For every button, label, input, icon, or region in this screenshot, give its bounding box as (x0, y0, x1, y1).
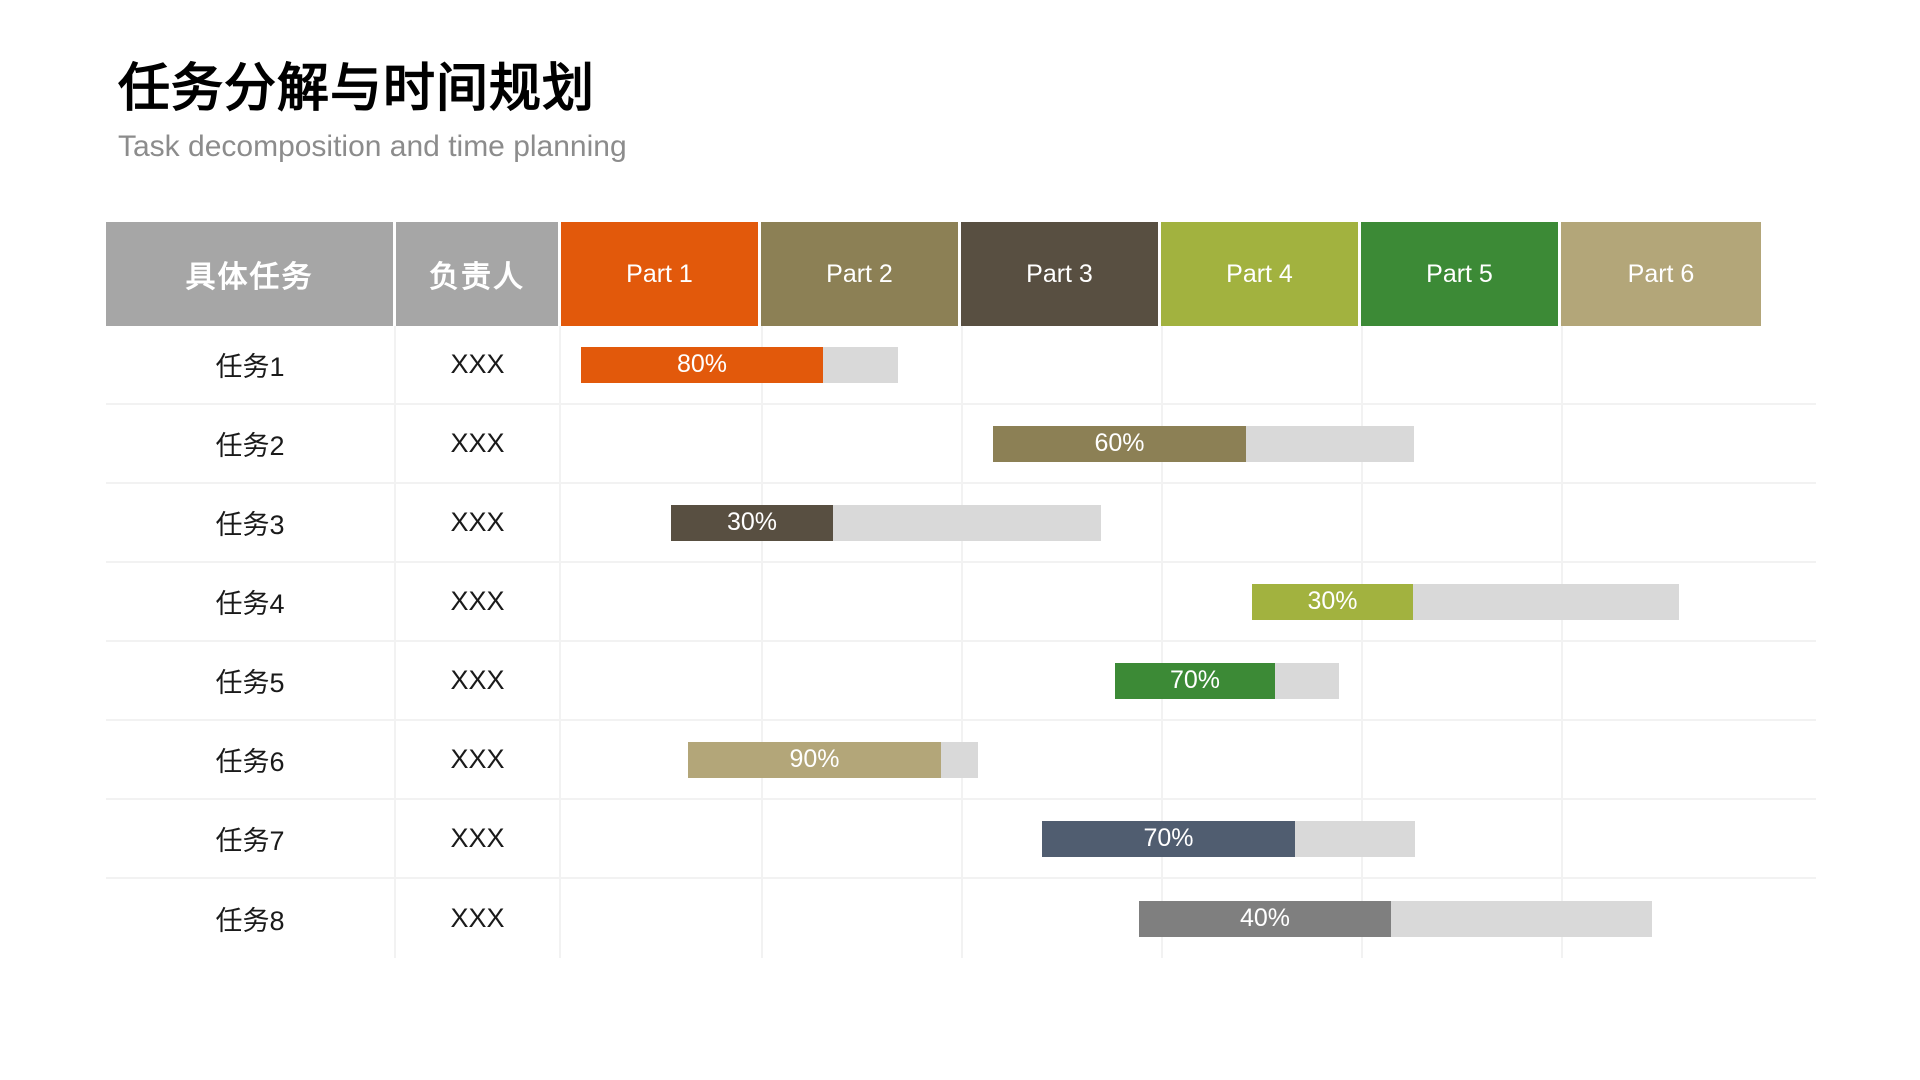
timeline-cell: 60% (561, 405, 1816, 482)
column-gridline (1161, 563, 1163, 640)
column-gridline (961, 642, 963, 719)
task-name-cell: 任务7 (106, 800, 396, 877)
column-gridline (1561, 800, 1563, 877)
table-body: 任务1XXX80%任务2XXX60%任务3XXX30%任务4XXX30%任务5X… (106, 326, 1816, 958)
gantt-bar-fill: 90% (688, 742, 941, 778)
gantt-table: 具体任务负责人Part 1Part 2Part 3Part 4Part 5Par… (106, 222, 1816, 958)
column-gridline (1561, 405, 1563, 482)
owner-cell: XXX (396, 642, 561, 719)
column-header-part-5[interactable]: Part 5 (1361, 222, 1561, 326)
gantt-bar-fill: 70% (1115, 663, 1275, 699)
column-gridline (761, 800, 763, 877)
gantt-bar[interactable]: 70% (1115, 663, 1339, 699)
task-name-cell: 任务1 (106, 326, 396, 403)
owner-cell: XXX (396, 326, 561, 403)
gantt-bar[interactable]: 80% (581, 347, 898, 383)
column-gridline (961, 800, 963, 877)
gantt-bar-percent-label: 70% (1170, 666, 1220, 695)
gantt-bar-remainder (823, 347, 898, 383)
gantt-bar-percent-label: 90% (789, 745, 839, 774)
column-gridline (961, 879, 963, 958)
page-title: 任务分解与时间规划 (118, 60, 1218, 118)
owner-cell: XXX (396, 563, 561, 640)
column-header-part-1[interactable]: Part 1 (561, 222, 761, 326)
gantt-bar-fill: 30% (1252, 584, 1413, 620)
column-header-label: 具体任务 (186, 252, 314, 296)
table-row[interactable]: 任务6XXX90% (106, 721, 1816, 800)
column-gridline (761, 405, 763, 482)
table-row[interactable]: 任务7XXX70% (106, 800, 1816, 879)
column-gridline (1161, 326, 1163, 403)
gantt-bar-percent-label: 30% (1307, 587, 1357, 616)
gantt-bar-remainder (941, 742, 978, 778)
column-gridline (1361, 642, 1363, 719)
gantt-bar[interactable]: 30% (1252, 584, 1679, 620)
timeline-cell: 40% (561, 879, 1816, 958)
task-name-cell: 任务4 (106, 563, 396, 640)
timeline-cell: 70% (561, 800, 1816, 877)
gantt-bar-remainder (1295, 821, 1415, 857)
column-gridline (961, 326, 963, 403)
gantt-bar-percent-label: 70% (1143, 824, 1193, 853)
gantt-bar[interactable]: 30% (671, 505, 1101, 541)
gantt-bar-remainder (1246, 426, 1414, 462)
column-header-label: Part 2 (826, 260, 893, 289)
timeline-cell: 70% (561, 642, 1816, 719)
timeline-cell: 80% (561, 326, 1816, 403)
column-gridline (1561, 484, 1563, 561)
column-header-label: Part 5 (1426, 260, 1493, 289)
column-gridline (1361, 484, 1363, 561)
gantt-bar[interactable]: 90% (688, 742, 978, 778)
column-header-label: Part 3 (1026, 260, 1093, 289)
column-gridline (761, 642, 763, 719)
column-header-task[interactable]: 具体任务 (106, 222, 396, 326)
gantt-bar-fill: 80% (581, 347, 823, 383)
owner-cell: XXX (396, 484, 561, 561)
column-header-part-4[interactable]: Part 4 (1161, 222, 1361, 326)
column-header-label: Part 1 (626, 260, 693, 289)
task-name-cell: 任务5 (106, 642, 396, 719)
gantt-bar-fill: 60% (993, 426, 1246, 462)
gantt-bar-fill: 30% (671, 505, 833, 541)
column-header-label: Part 6 (1628, 260, 1695, 289)
task-name-cell: 任务3 (106, 484, 396, 561)
column-gridline (1361, 326, 1363, 403)
column-gridline (961, 405, 963, 482)
gantt-bar-percent-label: 60% (1094, 429, 1144, 458)
table-row[interactable]: 任务8XXX40% (106, 879, 1816, 958)
column-gridline (1561, 721, 1563, 798)
gantt-bar-fill: 40% (1139, 901, 1391, 937)
table-row[interactable]: 任务5XXX70% (106, 642, 1816, 721)
column-gridline (1561, 642, 1563, 719)
gantt-bar-percent-label: 30% (727, 508, 777, 537)
task-name-cell: 任务6 (106, 721, 396, 798)
table-header-row: 具体任务负责人Part 1Part 2Part 3Part 4Part 5Par… (106, 222, 1816, 326)
task-name-cell: 任务8 (106, 879, 396, 958)
column-header-label: Part 4 (1226, 260, 1293, 289)
column-header-owner[interactable]: 负责人 (396, 222, 561, 326)
gantt-bar[interactable]: 60% (993, 426, 1414, 462)
column-gridline (1161, 721, 1163, 798)
gantt-bar-percent-label: 40% (1240, 904, 1290, 933)
column-gridline (1561, 326, 1563, 403)
slide-header: 任务分解与时间规划 Task decomposition and time pl… (118, 60, 1218, 164)
column-gridline (961, 563, 963, 640)
table-row[interactable]: 任务1XXX80% (106, 326, 1816, 405)
column-gridline (1361, 721, 1363, 798)
table-row[interactable]: 任务2XXX60% (106, 405, 1816, 484)
task-name-cell: 任务2 (106, 405, 396, 482)
column-gridline (1161, 484, 1163, 561)
owner-cell: XXX (396, 800, 561, 877)
timeline-cell: 90% (561, 721, 1816, 798)
timeline-cell: 30% (561, 563, 1816, 640)
gantt-bar-remainder (1275, 663, 1339, 699)
page-subtitle: Task decomposition and time planning (118, 130, 1218, 164)
gantt-bar[interactable]: 70% (1042, 821, 1415, 857)
table-row[interactable]: 任务3XXX30% (106, 484, 1816, 563)
gantt-bar-fill: 70% (1042, 821, 1295, 857)
timeline-cell: 30% (561, 484, 1816, 561)
column-header-part-3[interactable]: Part 3 (961, 222, 1161, 326)
column-gridline (761, 563, 763, 640)
owner-cell: XXX (396, 721, 561, 798)
gantt-bar-percent-label: 80% (677, 350, 727, 379)
owner-cell: XXX (396, 405, 561, 482)
column-header-part-2[interactable]: Part 2 (761, 222, 961, 326)
gantt-bar[interactable]: 40% (1139, 901, 1652, 937)
table-row[interactable]: 任务4XXX30% (106, 563, 1816, 642)
gantt-bar-remainder (833, 505, 1101, 541)
owner-cell: XXX (396, 879, 561, 958)
column-header-part-6[interactable]: Part 6 (1561, 222, 1761, 326)
column-gridline (761, 879, 763, 958)
gantt-bar-remainder (1391, 901, 1652, 937)
column-header-label: 负责人 (429, 252, 525, 296)
gantt-bar-remainder (1413, 584, 1679, 620)
